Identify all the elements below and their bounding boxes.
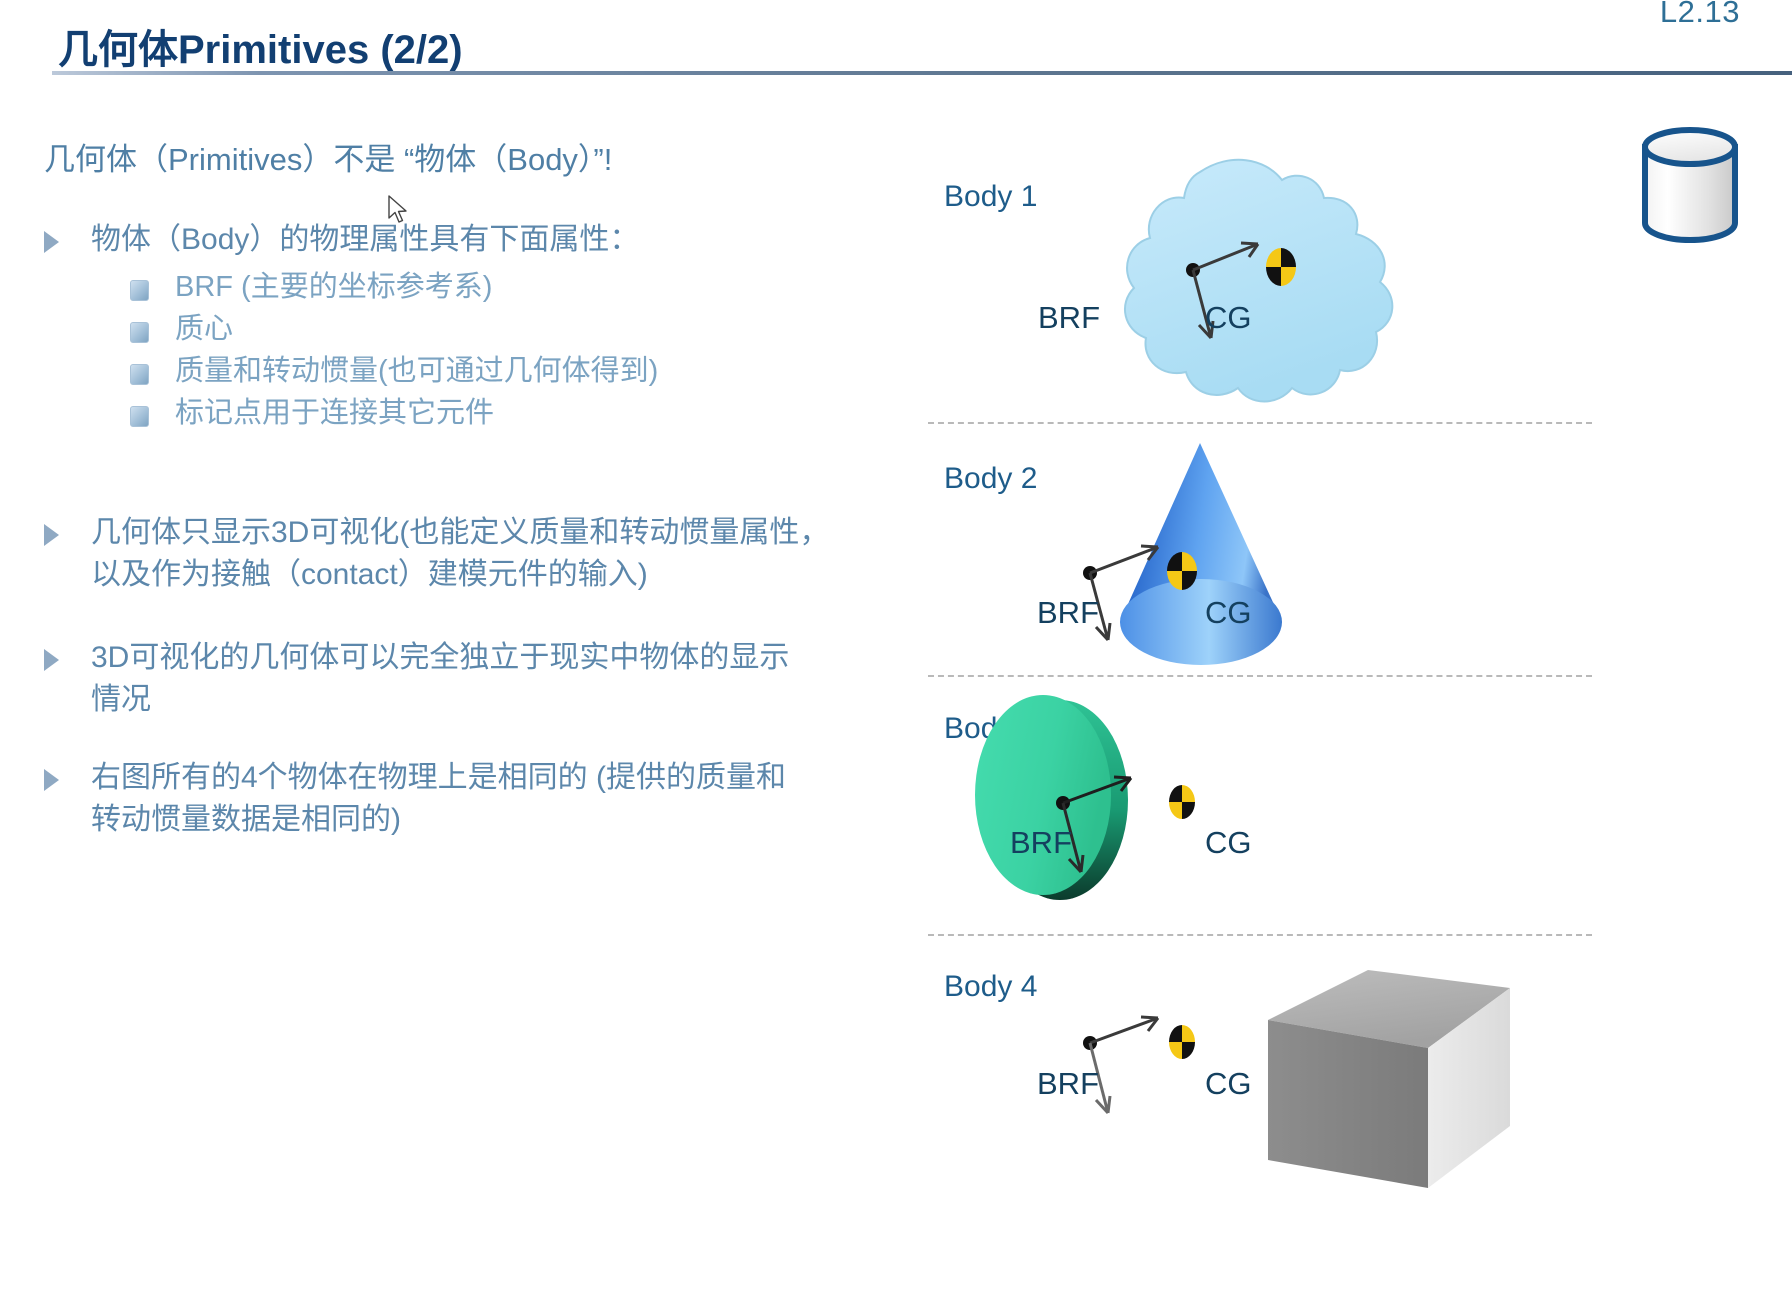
triangle-bullet-icon [44,649,59,671]
sub-bullet-label: 质心 [175,309,233,350]
blob-shape [1125,160,1392,402]
body-2-cg-label: CG [1205,595,1252,631]
body-4-panel: Body 4 [900,948,1792,1238]
body-3-brf-label: BRF [1010,825,1072,861]
cg-marker-icon [1168,1024,1196,1060]
panel-divider-1 [928,422,1592,424]
triangle-bullet-icon [44,231,59,253]
cg-marker-icon [1168,784,1196,820]
bullet-label: 3D可视化的几何体可以完全独立于现实中物体的显示 情况 [91,637,789,721]
body-2-brf-label: BRF [1037,595,1099,631]
sub-bullet-label: 质量和转动惯量(也可通过几何体得到) [175,351,658,392]
body-3-cg-label: CG [1205,825,1252,861]
bullet-primitive-3d-visual: 几何体只显示3D可视化(也能定义质量和转动惯量属性， 以及作为接触（contac… [44,512,829,596]
body-4-illustration [900,948,1792,1248]
page-title: 几何体Primitives (2/2) [58,17,463,75]
square-bullet-icon [130,322,149,343]
square-bullet-icon [130,364,149,385]
triangle-bullet-icon [44,769,59,791]
triangle-bullet-icon [44,524,59,546]
lead-statement: 几何体（Primitives）不是 “物体（Body）”! [44,134,612,179]
sub-bullet-label: 标记点用于连接其它元件 [175,393,494,434]
body-1-illustration [900,110,1792,430]
bullet-four-bodies-identical: 右图所有的4个物体在物理上是相同的 (提供的质量和 转动惯量数据是相同的) [44,757,786,841]
panel-divider-2 [928,675,1592,677]
sub-bullet-center-of-mass: 质心 [130,309,233,350]
title-underline [52,71,1792,75]
sub-bullet-mass-inertia: 质量和转动惯量(也可通过几何体得到) [130,351,658,392]
panel-divider-3 [928,934,1592,936]
body-2-panel: Body 2 [900,440,1792,690]
slide-number: L2.13 [1660,0,1740,30]
bullet-label: 物体（Body）的物理属性具有下面属性： [91,219,639,261]
body-1-brf-label: BRF [1038,300,1100,336]
mouse-cursor-icon [388,195,410,225]
sub-bullet-label: BRF (主要的坐标参考系) [175,267,492,308]
bodies-diagram-column: Body 1 [900,110,1792,1302]
bullet-independent-of-reality: 3D可视化的几何体可以完全独立于现实中物体的显示 情况 [44,637,789,721]
square-bullet-icon [130,406,149,427]
bullet-label: 右图所有的4个物体在物理上是相同的 (提供的质量和 转动惯量数据是相同的) [91,757,786,841]
sub-bullet-marker-points: 标记点用于连接其它元件 [130,393,494,434]
body-1-cg-label: CG [1205,300,1252,336]
box-shape [1268,970,1510,1188]
body-3-illustration [900,690,1792,940]
bullet-label: 几何体只显示3D可视化(也能定义质量和转动惯量属性， 以及作为接触（contac… [91,512,829,596]
sub-bullet-brf: BRF (主要的坐标参考系) [130,267,492,308]
square-bullet-icon [130,280,149,301]
body-4-cg-label: CG [1205,1066,1252,1102]
cylinder-shape [1645,130,1735,240]
body-1-panel: Body 1 [900,110,1792,430]
body-2-illustration [900,440,1792,690]
bullet-physical-properties: 物体（Body）的物理属性具有下面属性： [44,219,639,261]
body-3-panel: Body 3 [900,690,1792,940]
body-4-brf-label: BRF [1037,1066,1099,1102]
disc-shape [975,695,1111,895]
